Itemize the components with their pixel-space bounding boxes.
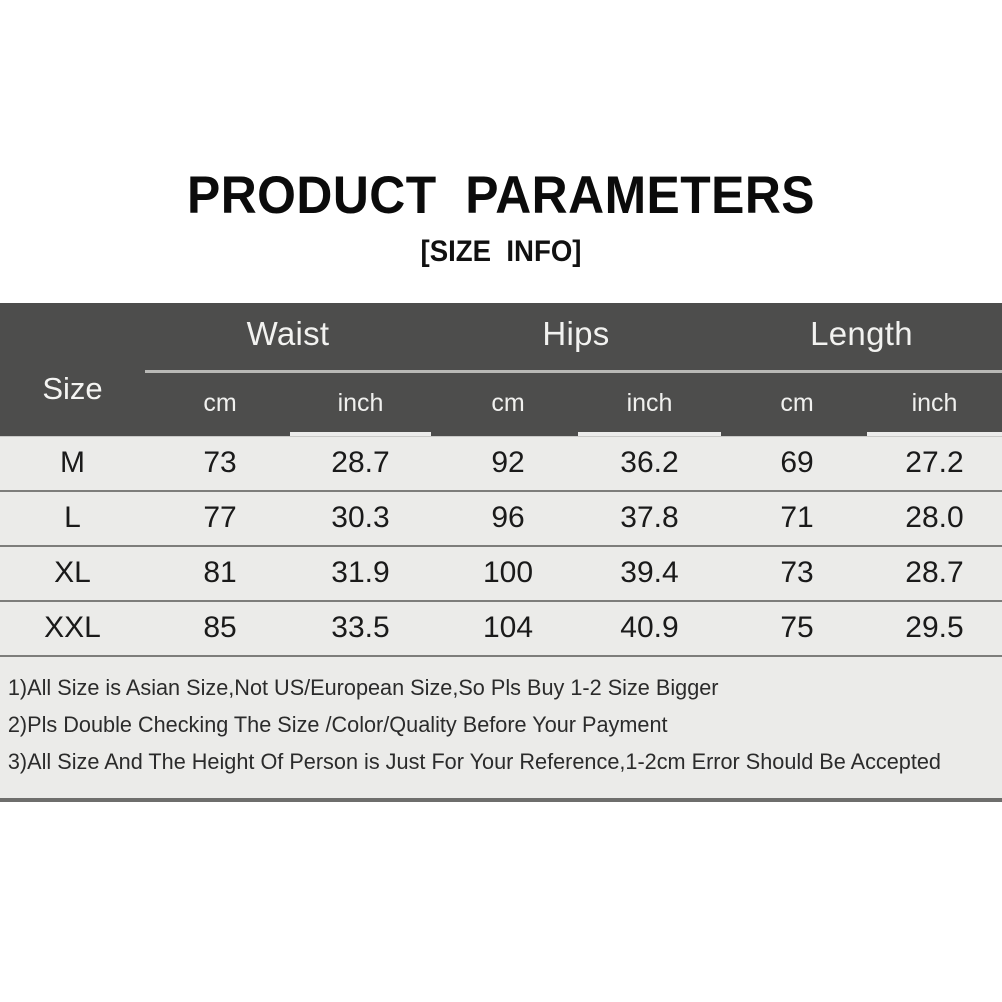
column-group-waist: Waist: [145, 315, 431, 353]
cell-length-cm: 69: [727, 445, 867, 481]
column-header-hips-cm: cm: [438, 389, 578, 418]
cell-waist-inch: 30.3: [290, 500, 431, 536]
column-group-hips: Hips: [431, 315, 721, 353]
cell-waist-cm: 77: [150, 500, 290, 536]
column-header-hips-inch: inch: [578, 389, 721, 418]
cell-length-inch: 28.7: [867, 555, 1002, 591]
cell-waist-inch: 28.7: [290, 445, 431, 481]
cell-hips-cm: 92: [438, 445, 578, 481]
cell-hips-inch: 37.8: [578, 500, 721, 536]
table-row: L 77 30.3 96 37.8 71 28.0: [0, 492, 1002, 547]
cell-waist-cm: 81: [150, 555, 290, 591]
cell-waist-cm: 85: [150, 610, 290, 646]
cell-length-cm: 75: [727, 610, 867, 646]
table-row: XXL 85 33.5 104 40.9 75 29.5: [0, 602, 1002, 657]
table-notes: 1)All Size is Asian Size,Not US/European…: [0, 657, 1002, 802]
column-header-waist-inch: inch: [290, 389, 431, 418]
cell-waist-inch: 31.9: [290, 555, 431, 591]
cell-size: L: [0, 500, 145, 536]
note-item: 3)All Size And The Height Of Person is J…: [0, 743, 987, 780]
table-header: Waist Hips Length Size cm inch cm inch c…: [0, 303, 1002, 436]
column-header-length-inch: inch: [867, 389, 1002, 418]
size-chart-page: PRODUCT PARAMETERS [SIZE INFO] Waist Hip…: [0, 0, 1002, 1002]
note-item: 1)All Size is Asian Size,Not US/European…: [0, 669, 987, 706]
table-row: XL 81 31.9 100 39.4 73 28.7: [0, 547, 1002, 602]
cell-length-inch: 27.2: [867, 445, 1002, 481]
cell-size: XXL: [0, 610, 145, 646]
cell-hips-cm: 104: [438, 610, 578, 646]
column-header-waist-cm: cm: [150, 389, 290, 418]
header-unit-row: cm inch cm inch cm inch: [0, 377, 1002, 436]
page-title: PRODUCT PARAMETERS: [30, 168, 972, 224]
cell-size: XL: [0, 555, 145, 591]
column-header-length-cm: cm: [727, 389, 867, 418]
header-group-divider: [145, 370, 1002, 373]
size-table: Waist Hips Length Size cm inch cm inch c…: [0, 303, 1002, 802]
page-subtitle: [SIZE INFO]: [40, 235, 962, 269]
column-group-length: Length: [721, 315, 1002, 353]
cell-length-inch: 28.0: [867, 500, 1002, 536]
cell-waist-inch: 33.5: [290, 610, 431, 646]
note-item: 2)Pls Double Checking The Size /Color/Qu…: [0, 706, 987, 743]
cell-hips-inch: 40.9: [578, 610, 721, 646]
cell-hips-cm: 100: [438, 555, 578, 591]
cell-length-cm: 71: [727, 500, 867, 536]
cell-waist-cm: 73: [150, 445, 290, 481]
title-block: PRODUCT PARAMETERS [SIZE INFO]: [0, 168, 1002, 269]
table-row: M 73 28.7 92 36.2 69 27.2: [0, 436, 1002, 492]
cell-hips-inch: 36.2: [578, 445, 721, 481]
table-body: M 73 28.7 92 36.2 69 27.2 L 77 30.3 96 3…: [0, 436, 1002, 657]
cell-length-cm: 73: [727, 555, 867, 591]
cell-hips-cm: 96: [438, 500, 578, 536]
header-group-row: Waist Hips Length: [0, 303, 1002, 370]
cell-size: M: [0, 445, 145, 481]
cell-hips-inch: 39.4: [578, 555, 721, 591]
cell-length-inch: 29.5: [867, 610, 1002, 646]
